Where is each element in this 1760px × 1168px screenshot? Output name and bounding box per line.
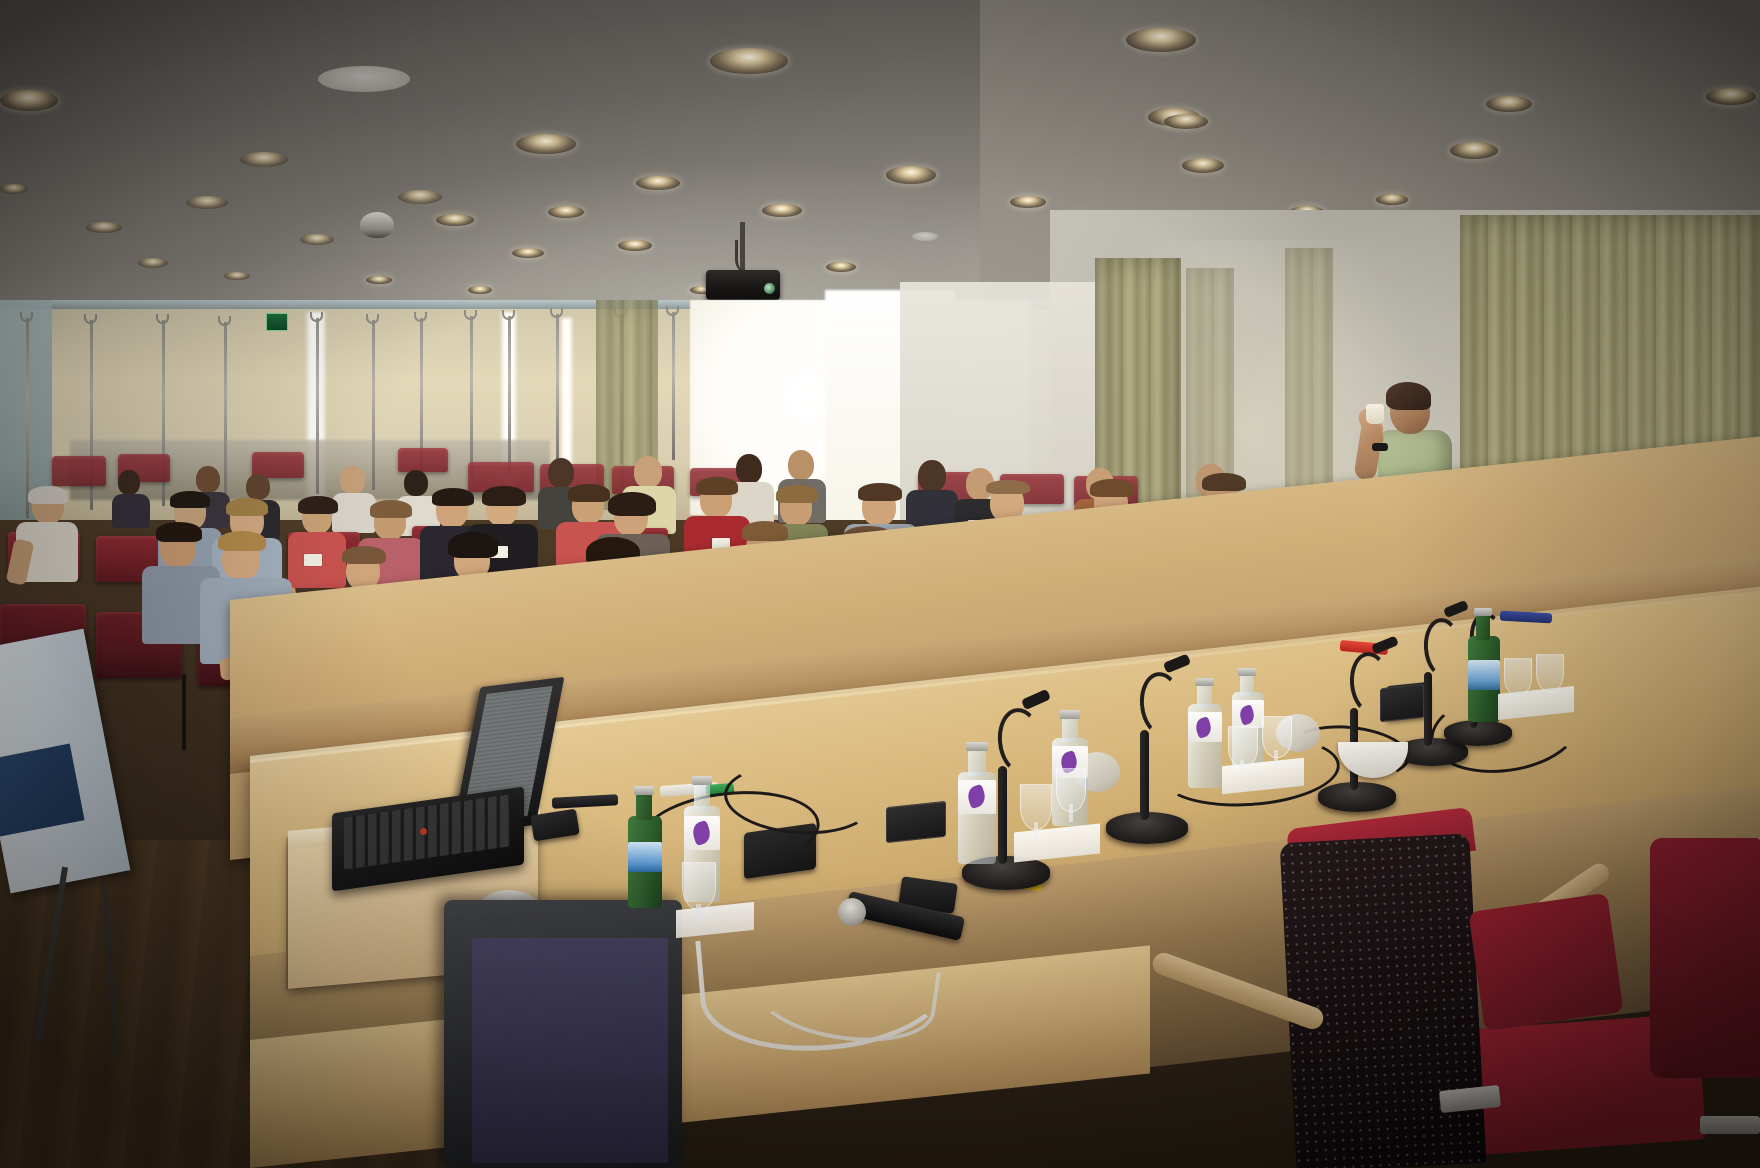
monitor-screen [472, 938, 668, 1163]
wine-glass-stem [1034, 822, 1038, 840]
downlight-icon [436, 214, 474, 226]
bottle-neck [694, 782, 710, 810]
bottle-cap [1195, 678, 1214, 686]
downlight-icon [548, 206, 584, 218]
downlight-icon [512, 248, 544, 258]
chair [398, 448, 448, 472]
wine-glass[interactable] [1504, 658, 1532, 696]
downlight-icon [1182, 158, 1224, 173]
trackpoint-icon[interactable] [420, 828, 427, 835]
wine-glass-stem [696, 904, 701, 922]
downlight-icon [1376, 194, 1408, 205]
wristwatch-icon [1372, 443, 1388, 451]
speaker-hair [1386, 382, 1431, 410]
downlight-icon [826, 262, 856, 272]
downlight-icon [1164, 114, 1208, 129]
downlight-icon [618, 240, 652, 251]
gooseneck-mic-stem [998, 766, 1007, 864]
connector-plate[interactable] [886, 801, 946, 843]
wine-glass[interactable] [682, 862, 716, 910]
bottle-neck [1240, 674, 1254, 696]
bottle-cap [634, 786, 654, 795]
downlight-icon [0, 184, 28, 194]
downlight-icon [886, 166, 936, 184]
downlight-icon [224, 272, 250, 280]
partition-rod [672, 312, 675, 460]
conference-chair[interactable] [1279, 833, 1486, 1168]
downlight-icon [1486, 96, 1532, 112]
bottle-label [628, 842, 662, 872]
bottle-cap [1060, 710, 1080, 719]
downlight-icon [1126, 28, 1196, 52]
bottle-neck [1197, 684, 1212, 708]
bottle-neck [968, 748, 986, 776]
dome-camera-icon [360, 212, 394, 238]
downlight-icon [516, 134, 576, 154]
downlight-icon [300, 234, 334, 245]
conference-chair[interactable] [1650, 838, 1760, 1078]
downlight-icon [1450, 142, 1498, 159]
projector-cable [735, 240, 755, 274]
projector-lens-icon [764, 283, 775, 294]
chair [52, 456, 106, 486]
downlight-icon [710, 48, 788, 74]
bottle-neck [1062, 716, 1078, 742]
downlight-icon [366, 276, 392, 284]
conference-room-photograph: Lecture hall audience during a conferenc… [0, 0, 1760, 1168]
chair-base-metal [1700, 1116, 1760, 1134]
ceiling-speaker-grille [912, 232, 938, 241]
bottle-neck [636, 792, 652, 820]
downlight-icon [240, 152, 288, 167]
projector-mount-rod [740, 222, 745, 274]
downlight-icon [762, 204, 802, 217]
bottle-neck [1476, 614, 1490, 640]
downlight-icon [398, 190, 442, 204]
paper-cup [1366, 404, 1384, 424]
bottle-cap [1474, 608, 1492, 616]
wine-glass-stem [1274, 750, 1278, 766]
bottle-label [1468, 660, 1500, 690]
gooseneck-mic-stem [1424, 672, 1432, 746]
downlight-icon [186, 196, 228, 209]
gooseneck-mic-base[interactable] [1444, 720, 1512, 746]
downlight-icon [138, 258, 168, 268]
exit-sign-icon [266, 313, 288, 331]
downlight-icon [0, 90, 58, 111]
downlight-icon [1706, 88, 1756, 105]
downlight-icon [1010, 196, 1046, 208]
bottle-cap [1238, 668, 1256, 676]
ceiling-speaker-grille [318, 66, 410, 92]
conference-chair-back-panel [1468, 893, 1623, 1031]
downlight-icon [468, 286, 492, 294]
gooseneck-mic-stem [1140, 730, 1149, 820]
bottle-cap [966, 742, 988, 751]
wine-glass-stem [1069, 804, 1073, 822]
chair-leg [182, 674, 186, 750]
downlight-icon [636, 176, 680, 190]
bottle-cap [692, 776, 712, 785]
wine-glass-stem [1240, 760, 1244, 776]
name-badge [304, 554, 322, 566]
wine-glass[interactable] [1536, 654, 1564, 692]
downlight-icon [86, 222, 122, 233]
